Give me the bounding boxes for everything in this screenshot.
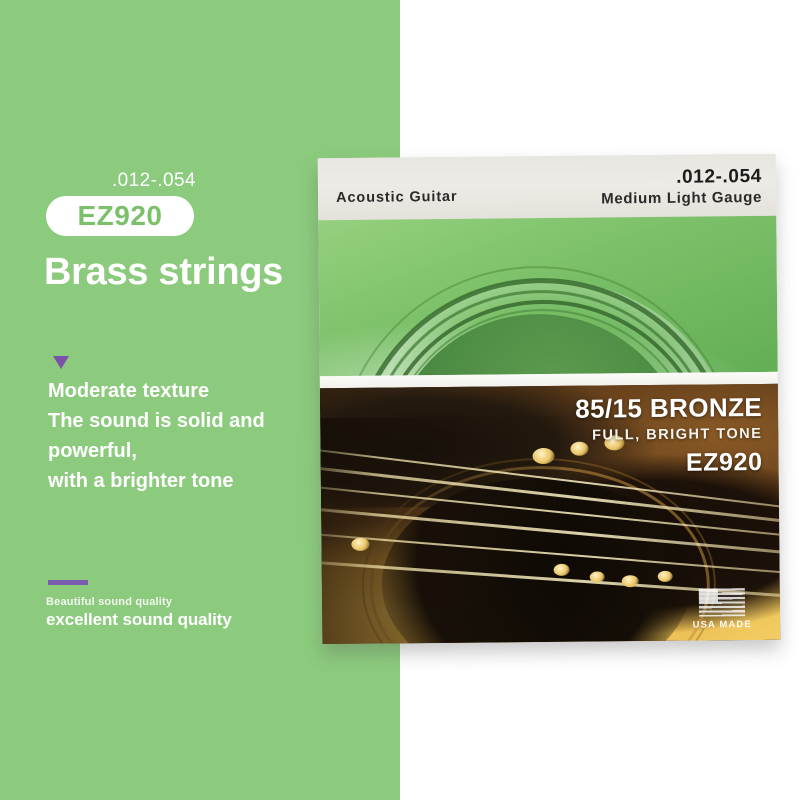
- highlight-dot: [590, 571, 605, 582]
- usa-flag-icon: [699, 588, 745, 616]
- feature-line: The sound is solid and: [48, 406, 348, 436]
- origin-label: USA MADE: [686, 619, 758, 631]
- flag-canton: [699, 588, 718, 602]
- bronze-subtitle: FULL, BRIGHT TONE: [575, 422, 762, 448]
- guitar-soundhole-graphic: [318, 216, 777, 376]
- accent-divider-bar: [48, 580, 88, 585]
- model-badge-label: EZ920: [78, 202, 163, 230]
- feature-line: with a brighter tone: [48, 466, 348, 496]
- guitar-soundhole-photo: 85/15 BRONZE FULL, BRIGHT TONE EZ920 USA…: [320, 384, 780, 644]
- model-badge-pill: EZ920: [46, 196, 194, 236]
- package-gauge-numbers: .012-.054: [601, 166, 762, 190]
- bronze-text-group: 85/15 BRONZE FULL, BRIGHT TONE EZ920: [575, 392, 763, 480]
- triangle-down-icon: [53, 356, 69, 369]
- feature-list: Moderate texture The sound is solid and …: [48, 376, 348, 496]
- quality-tagline-small: Beautiful sound quality: [46, 596, 172, 608]
- feature-line: Moderate texture: [48, 376, 348, 406]
- package-gauge-group: .012-.054 Medium Light Gauge: [601, 166, 762, 210]
- highlight-dot: [554, 564, 570, 576]
- highlight-dot: [351, 538, 369, 551]
- product-promo-image: .012-.054 EZ920 Brass strings Moderate t…: [0, 0, 800, 800]
- package-header-band: Acoustic Guitar .012-.054 Medium Light G…: [318, 154, 777, 220]
- bronze-model-label: EZ920: [576, 446, 763, 480]
- product-package: Acoustic Guitar .012-.054 Medium Light G…: [318, 154, 781, 644]
- promo-gauge-caption: .012-.054: [112, 170, 196, 192]
- feature-line: powerful,: [48, 436, 348, 466]
- package-instrument-label: Acoustic Guitar: [336, 189, 458, 206]
- package-gauge-label: Medium Light Gauge: [601, 188, 762, 210]
- origin-badge: USA MADE: [686, 588, 758, 631]
- promo-headline: Brass strings: [44, 251, 283, 294]
- quality-tagline-large: excellent sound quality: [46, 610, 232, 630]
- highlight-dot: [658, 571, 673, 582]
- bronze-title: 85/15 BRONZE: [575, 392, 762, 424]
